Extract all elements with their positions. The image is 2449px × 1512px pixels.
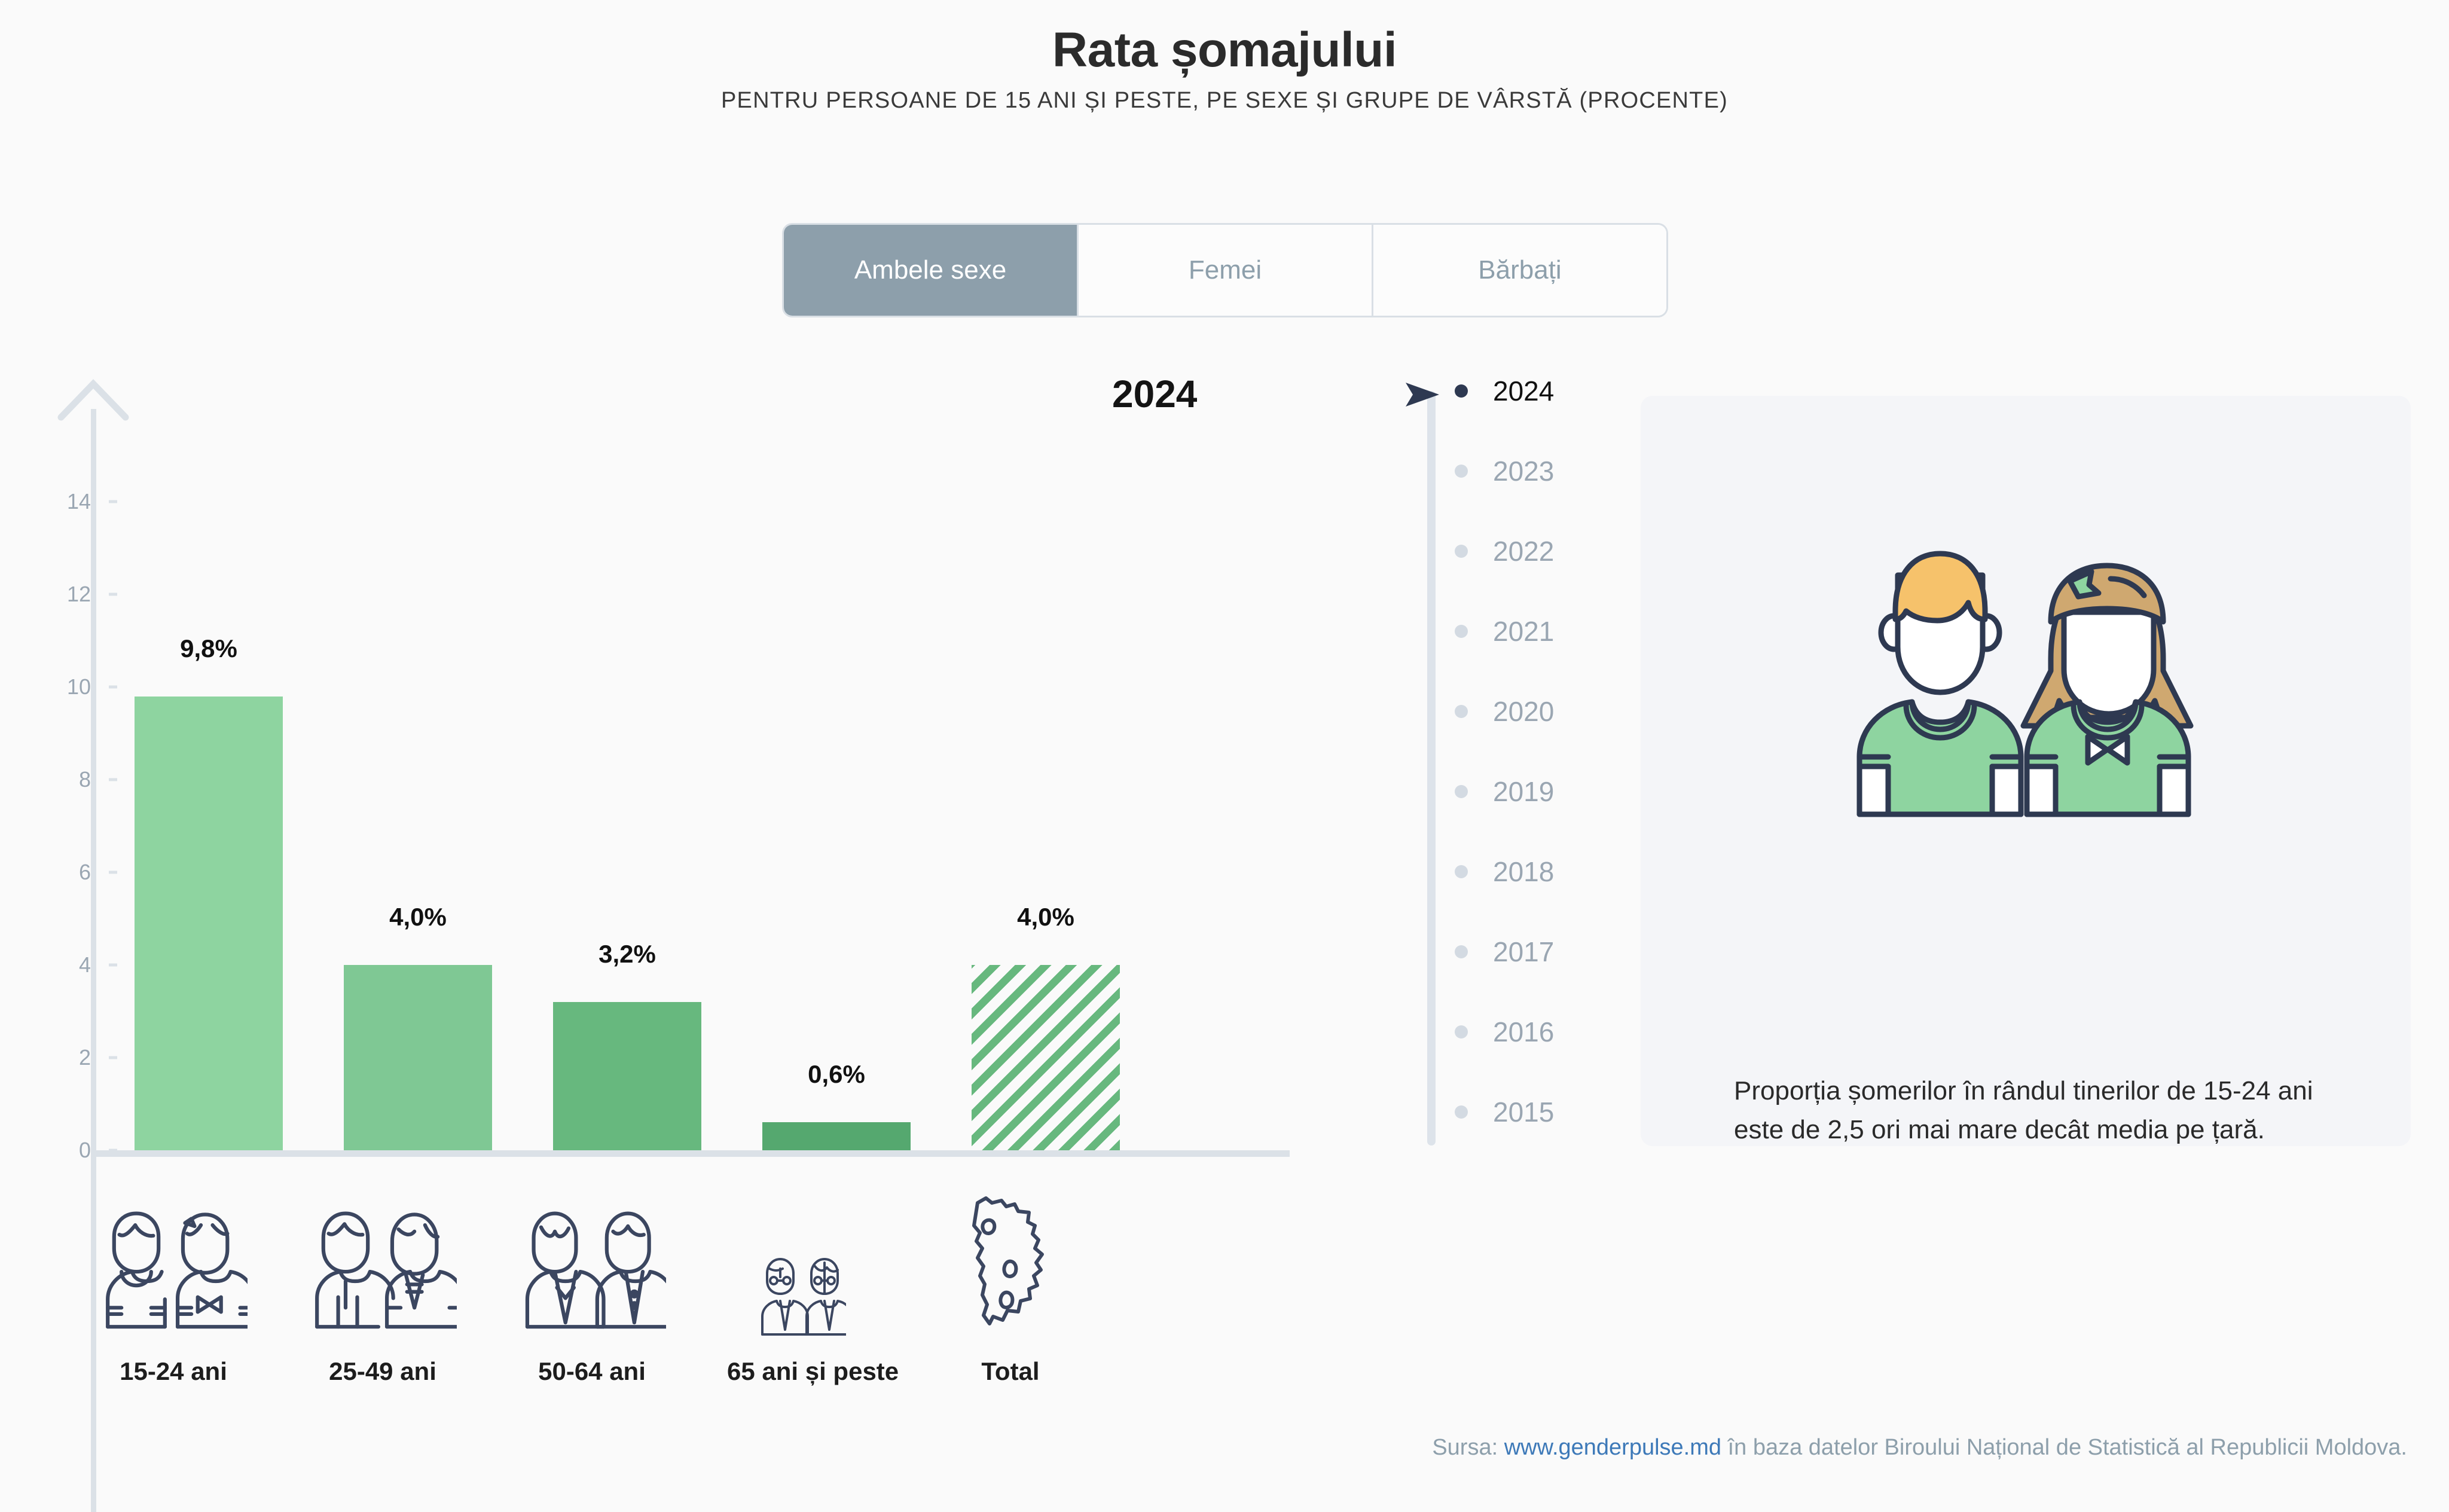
tab-femei[interactable]: Femei — [1077, 225, 1372, 316]
y-tick-12: 12 — [0, 582, 91, 607]
year-option-2020[interactable]: 2020 — [1408, 697, 1623, 726]
y-tick-6: 6 — [0, 860, 91, 885]
year-dot — [1455, 625, 1468, 638]
year-label: 2021 — [1493, 615, 1554, 647]
x-axis-line — [91, 1150, 1290, 1157]
year-label: 2017 — [1493, 936, 1554, 968]
year-option-2023[interactable]: 2023 — [1408, 457, 1623, 485]
y-tick-2: 2 — [0, 1045, 91, 1070]
bar-chart: 2024 0 2 4 6 8 10 12 14 9,8% 4,0% 3,2% 0… — [0, 365, 1357, 1178]
x-category-25-49: 25-49 ani — [309, 1190, 457, 1386]
source-footer: Sursa: www.genderpulse.md în baza datelo… — [0, 1435, 2407, 1461]
year-dot — [1455, 1025, 1468, 1038]
x-axis-categories: 15-24 ani 25-49 ani — [0, 1190, 1357, 1447]
two-adults-icon — [309, 1190, 457, 1339]
y-tick-14: 14 — [0, 489, 91, 514]
two-older-adults-icon — [518, 1190, 666, 1339]
x-category-label: Total — [936, 1357, 1085, 1386]
year-selector: 2024 2023 2022 2021 2020 2019 2018 2017 … — [1408, 377, 1623, 1166]
x-category-label: 25-49 ani — [309, 1357, 457, 1386]
year-label: 2019 — [1493, 775, 1554, 808]
insight-text: Proporția șomerilor în rândul tinerilor … — [1734, 1071, 2363, 1149]
year-dot — [1455, 545, 1468, 558]
year-label: 2018 — [1493, 856, 1554, 888]
young-man-and-woman-illustration-icon — [1816, 515, 2235, 841]
bar-rect-hatched[interactable] — [972, 965, 1120, 1150]
year-pointer-icon — [1403, 380, 1445, 412]
bar-rect[interactable] — [135, 697, 283, 1150]
year-dot — [1455, 384, 1468, 398]
bar-value-label: 4,0% — [1017, 903, 1074, 931]
page-subtitle: PENTRU PERSOANE DE 15 ANI ȘI PESTE, PE S… — [0, 88, 2449, 114]
source-suffix: în baza datelor Biroului Național de Sta… — [1721, 1435, 2407, 1460]
year-option-2017[interactable]: 2017 — [1408, 937, 1623, 966]
year-dot — [1455, 465, 1468, 478]
x-category-label: 15-24 ani — [99, 1357, 248, 1386]
year-dot — [1455, 705, 1468, 718]
two-elderly-people-icon — [727, 1190, 875, 1339]
year-option-2015[interactable]: 2015 — [1408, 1098, 1623, 1126]
year-label: 2024 — [1493, 375, 1554, 407]
year-label: 2015 — [1493, 1096, 1554, 1128]
y-tick-10: 10 — [0, 674, 91, 700]
bar-value-label: 4,0% — [389, 903, 447, 931]
year-label: 2022 — [1493, 535, 1554, 567]
x-category-65-plus: 65 ani și peste — [727, 1190, 875, 1386]
source-link[interactable]: www.genderpulse.md — [1504, 1435, 1721, 1460]
bar-value-label: 9,8% — [180, 634, 237, 663]
y-tick-0: 0 — [0, 1138, 91, 1163]
year-dot — [1455, 785, 1468, 798]
sex-filter-tabs: Ambele sexe Femei Bărbați — [784, 225, 1666, 316]
year-dot — [1455, 865, 1468, 878]
insight-card: Proporția șomerilor în rândul tinerilor … — [1641, 396, 2411, 1146]
x-category-50-64: 50-64 ani — [518, 1190, 666, 1386]
tab-label: Ambele sexe — [854, 255, 1006, 285]
year-option-2016[interactable]: 2016 — [1408, 1018, 1623, 1046]
year-dot — [1455, 945, 1468, 958]
tab-barbati[interactable]: Bărbați — [1372, 225, 1666, 316]
tab-ambele-sexe[interactable]: Ambele sexe — [784, 225, 1077, 316]
bar-rect[interactable] — [553, 1002, 701, 1150]
page-header: Rata șomajului PENTRU PERSOANE DE 15 ANI… — [0, 0, 2449, 114]
tab-label: Femei — [1189, 255, 1262, 285]
year-option-2021[interactable]: 2021 — [1408, 617, 1623, 646]
year-dot — [1455, 1105, 1468, 1119]
y-tick-8: 8 — [0, 767, 91, 792]
bar-value-label: 3,2% — [598, 940, 656, 969]
year-label: 2020 — [1493, 695, 1554, 728]
year-option-2018[interactable]: 2018 — [1408, 857, 1623, 886]
tab-label: Bărbați — [1478, 255, 1561, 285]
year-option-2019[interactable]: 2019 — [1408, 777, 1623, 806]
year-label: 2023 — [1493, 455, 1554, 487]
x-category-label: 50-64 ani — [518, 1357, 666, 1386]
bar-rect[interactable] — [762, 1122, 911, 1150]
x-category-total: Total — [936, 1190, 1085, 1386]
bar-group: 9,8% 4,0% 3,2% 0,6% 4,0% — [96, 365, 1137, 1150]
year-label: 2016 — [1493, 1016, 1554, 1048]
y-tick-4: 4 — [0, 952, 91, 978]
year-option-2022[interactable]: 2022 — [1408, 537, 1623, 566]
bar-value-label: 0,6% — [808, 1060, 865, 1089]
x-category-15-24: 15-24 ani — [99, 1190, 248, 1386]
x-category-label: 65 ani și peste — [727, 1357, 875, 1386]
bar-rect[interactable] — [344, 965, 492, 1150]
two-young-people-icon — [99, 1190, 248, 1339]
page-title: Rata șomajului — [0, 24, 2449, 77]
year-option-2024[interactable]: 2024 — [1408, 377, 1623, 405]
moldova-map-icon — [936, 1190, 1085, 1339]
source-prefix: Sursa: — [1432, 1435, 1504, 1460]
